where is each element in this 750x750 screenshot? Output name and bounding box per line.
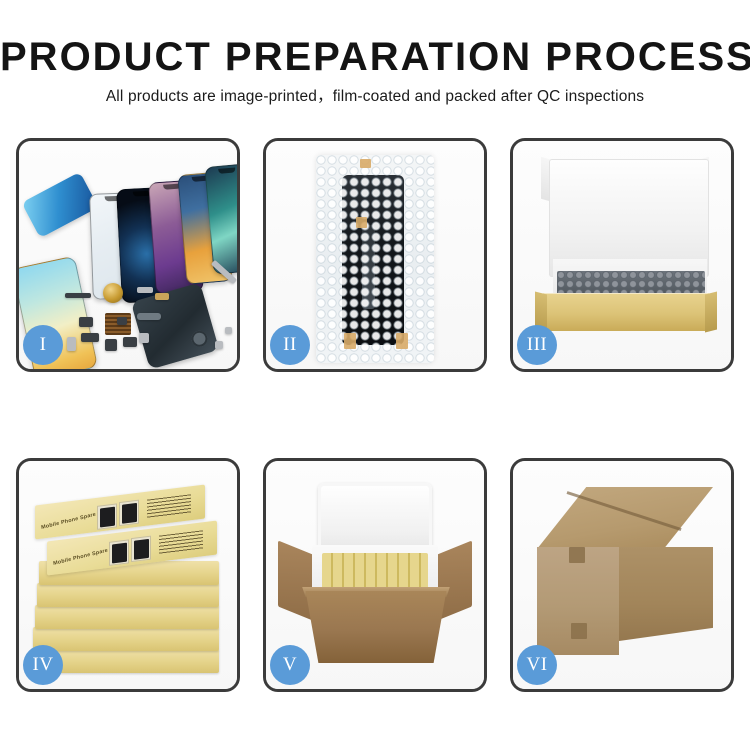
yellow-box-body-icon — [543, 293, 709, 331]
tape-tab-top-icon — [360, 159, 371, 168]
part-module-icon — [81, 333, 99, 342]
blue-screen-panel-icon — [21, 172, 98, 238]
part-screw-2-icon — [225, 327, 232, 334]
box-art-square-2 — [119, 500, 139, 526]
part-gold-icon — [155, 293, 169, 300]
step-badge-6: VI — [517, 645, 557, 685]
infographic-page: PRODUCT PREPARATION PROCESS All products… — [0, 0, 750, 750]
step-badge-2: II — [270, 325, 310, 365]
part-light-strip-icon — [137, 287, 153, 293]
carton-body-icon — [296, 591, 456, 663]
part-strip-icon — [65, 293, 91, 298]
step-badge-1: I — [23, 325, 63, 365]
page-subtitle: All products are image-printed，film-coat… — [0, 87, 750, 107]
stacked-box-4 — [35, 605, 219, 629]
sealed-carton-right-face-icon — [619, 547, 713, 641]
packed-yellow-boxes-icon — [322, 553, 428, 591]
stacked-box-3 — [37, 583, 219, 607]
styrofoam-lid-icon — [318, 483, 432, 553]
box-art-square-4 — [131, 536, 151, 562]
page-title: PRODUCT PREPARATION PROCESS — [0, 34, 750, 80]
part-camera-icon — [105, 339, 117, 351]
stacked-box-5 — [33, 627, 219, 651]
tape-tab-left-icon — [344, 333, 356, 349]
part-screw-icon — [215, 341, 223, 349]
process-step-5: V — [263, 458, 487, 692]
box-art-square-1 — [97, 503, 117, 529]
process-step-grid: I II — [16, 138, 734, 692]
step-badge-4: IV — [23, 645, 63, 685]
part-sensor-icon — [117, 317, 127, 325]
process-step-4: Mobile Phone Spare Parts Mobile Phone Sp… — [16, 458, 240, 692]
box-art-square-3 — [109, 539, 129, 565]
part-button-icon — [139, 333, 149, 343]
header: PRODUCT PREPARATION PROCESS All products… — [0, 34, 750, 107]
tape-tab-mid-icon — [356, 217, 367, 228]
process-step-2: II — [263, 138, 487, 372]
process-step-6: VI — [510, 458, 734, 692]
part-connector-icon — [67, 337, 76, 351]
carton-tape-lower-icon — [571, 623, 587, 639]
box-spec-lines-1 — [147, 494, 191, 519]
bubble-texture-icon — [316, 155, 434, 363]
sealed-carton-top-icon — [537, 487, 713, 549]
tape-tab-right-icon — [396, 333, 408, 349]
part-chip-icon — [79, 317, 93, 327]
process-step-1: I — [16, 138, 240, 372]
copper-coil-part-icon — [103, 283, 123, 303]
part-flex-cable-icon — [137, 313, 161, 320]
step-badge-3: III — [517, 325, 557, 365]
box-spec-lines-2 — [159, 530, 203, 555]
process-step-3: III — [510, 138, 734, 372]
part-speaker-icon — [123, 337, 137, 347]
step-badge-5: V — [270, 645, 310, 685]
carton-tape-upper-icon — [569, 547, 585, 563]
bubble-wrap-bag — [316, 155, 434, 363]
